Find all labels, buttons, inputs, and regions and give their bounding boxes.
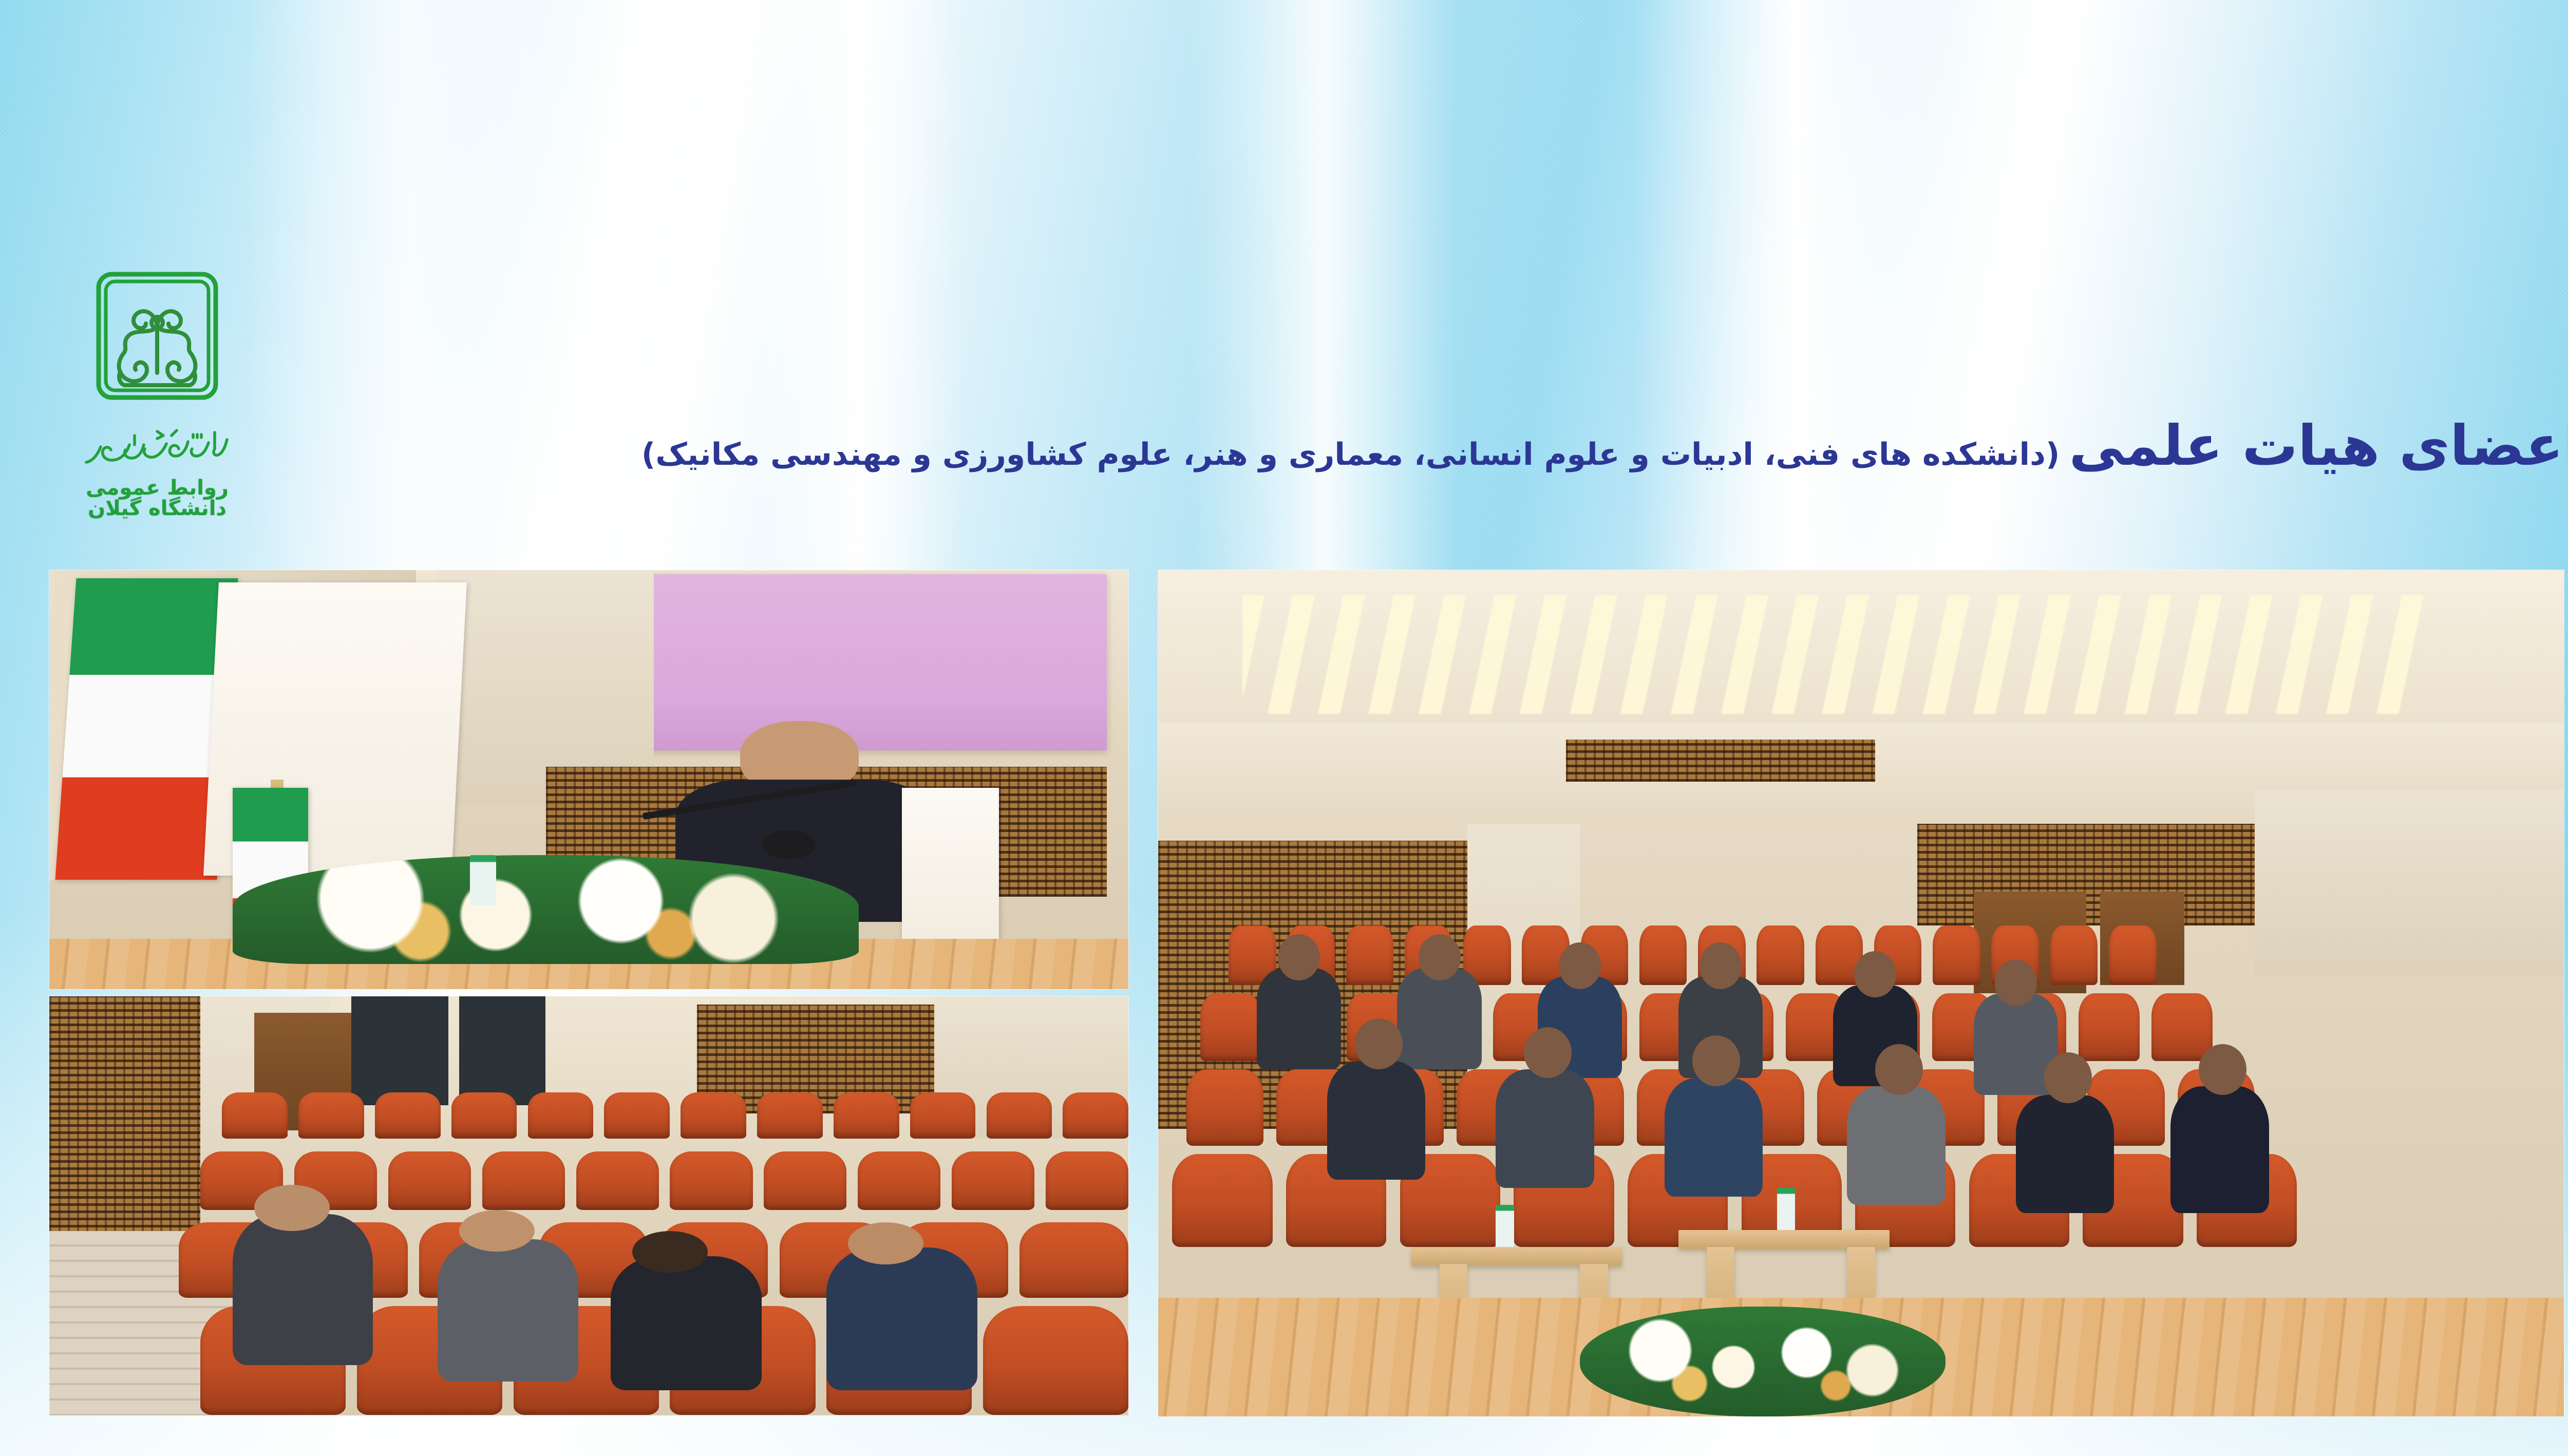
photo-grid — [49, 570, 2568, 1416]
light-streak — [247, 0, 606, 575]
light-streak — [1192, 0, 1459, 575]
banner-title-parenthetical: (دانشکده های فنی، ادبیات و علوم انسانی، … — [641, 439, 2060, 470]
light-streak — [1633, 0, 1962, 575]
photo-audience-side-view — [49, 996, 1128, 1415]
event-banner: روابط عمومی دانشگاه گیلان نشست هم اندیشی… — [0, 0, 2568, 1456]
photo-speaker-at-podium — [49, 570, 1128, 989]
guilan-university-emblem-icon — [90, 267, 224, 421]
photo-column-middle — [1158, 570, 2564, 1416]
photo-column-left — [49, 570, 1128, 1416]
banner-title: نشست هم اندیشی رئیس دانشگاه با اعضای هیا… — [451, 419, 2568, 474]
banner-title-main: نشست هم اندیشی رئیس دانشگاه با اعضای هیا… — [2069, 419, 2568, 474]
photo-auditorium-wide — [1158, 570, 2564, 1416]
logo-wordmark-persian — [80, 422, 234, 468]
light-streak — [750, 0, 966, 575]
logo-caption-public-relations: روابط عمومی دانشگاه گیلان — [49, 478, 265, 519]
university-logo-block: روابط عمومی دانشگاه گیلان — [49, 267, 265, 519]
